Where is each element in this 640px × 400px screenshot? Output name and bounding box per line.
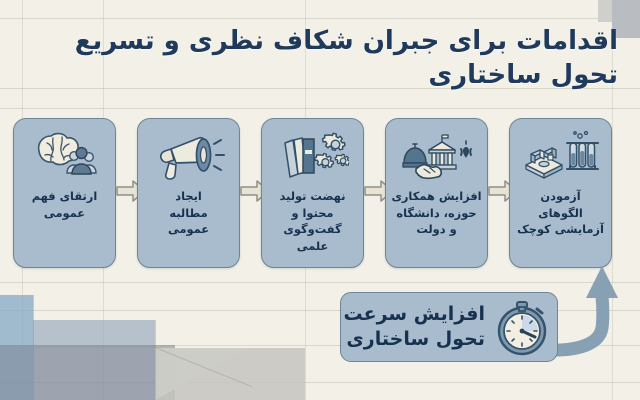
page-title: اقدامات برای جبران شکاف نظری و تسریع تحو… — [18, 24, 618, 93]
speed-banner-label: افزایش سرعت تحول ساختاری — [341, 302, 485, 351]
flow-step-label: افزایش همکاری حوزه، دانشگاه و دولت — [387, 188, 485, 238]
flow-step-label: نهضت تولید محتوا و گفت‌وگوی علمی — [262, 188, 363, 255]
flow-step-label: ایجاد مطالبه عمومی — [164, 188, 213, 238]
grid-hline — [0, 18, 640, 19]
flow-step-3[interactable]: نهضت تولید محتوا و گفت‌وگوی علمی — [261, 118, 364, 268]
decor-shape — [33, 320, 155, 348]
decor-edge — [155, 320, 156, 400]
decor-shape — [155, 348, 250, 400]
lab-prototype-icon — [522, 125, 600, 187]
infographic-canvas: اقدامات برای جبران شکاف نظری و تسریع تحو… — [0, 0, 640, 400]
corner-block-light — [598, 0, 612, 22]
stopwatch-icon — [491, 294, 557, 360]
decor-shape — [0, 345, 175, 400]
decor-edge — [33, 295, 34, 400]
mosque-university-handshake-icon — [398, 125, 476, 187]
megaphone-icon — [153, 125, 225, 187]
flow-step-label: آزمودن الگوهای آزمایشی کوچک — [513, 188, 608, 238]
flow-step-4[interactable]: افزایش همکاری حوزه، دانشگاه و دولت — [385, 118, 488, 268]
speed-banner[interactable]: افزایش سرعت تحول ساختاری — [340, 292, 558, 362]
flow-step-2[interactable]: ایجاد مطالبه عمومی — [137, 118, 240, 268]
grid-hline — [0, 108, 640, 109]
books-gears-icon — [277, 125, 349, 187]
brain-people-icon — [29, 125, 101, 187]
flow-step-label: ارتقای فهم عمومی — [28, 188, 102, 221]
flow-step-1[interactable]: ارتقای فهم عمومی — [13, 118, 116, 268]
